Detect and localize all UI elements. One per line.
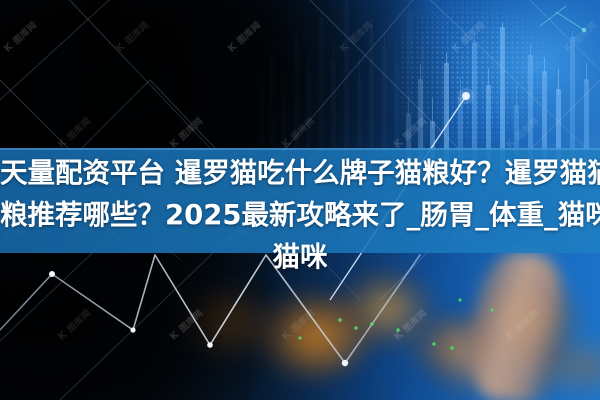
headline-text: 天量配资平台 暹罗猫吃什么牌子猫粮好？暹罗猫猫 粮推荐哪些？2025最新攻略来了…: [0, 152, 600, 278]
headline-band-border: [0, 148, 600, 150]
headline-line-1: 天量配资平台 暹罗猫吃什么牌子猫粮好？暹罗猫猫: [0, 152, 600, 194]
headline-line-2: 粮推荐哪些？2025最新攻略来了_肠胃_体重_猫咪: [0, 194, 600, 236]
banner-image: K 图库网K 图库网K 图库网K 图库网K 图库网K 图库网K 图库网K 图库网…: [0, 0, 600, 400]
headline-line-3: 猫咪: [0, 236, 600, 278]
